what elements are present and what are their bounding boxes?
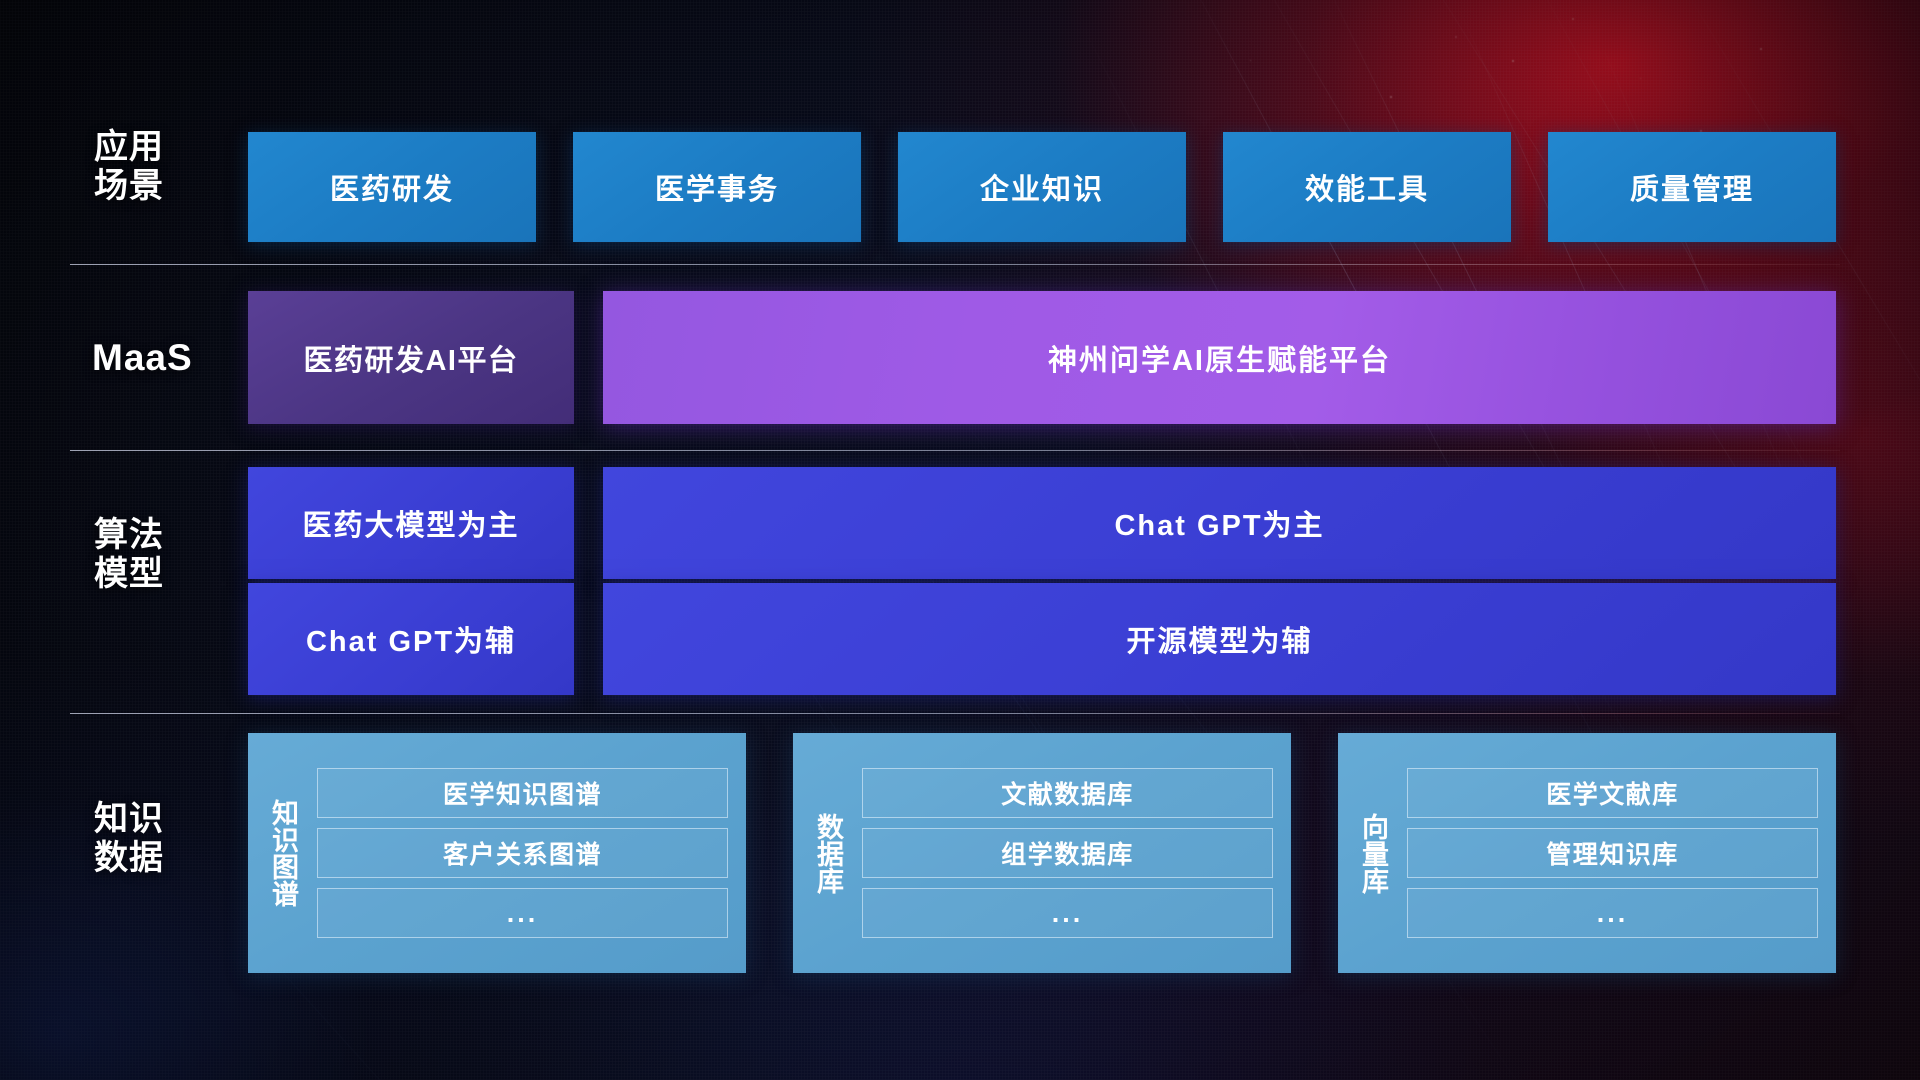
row-label-application-scenario: 应用 场景	[94, 128, 274, 207]
knowledge-item-label: ...	[507, 898, 539, 929]
knowledge-panel-2[interactable]: 向量库 医学文献库 管理知识库 ...	[1338, 733, 1836, 973]
knowledge-item[interactable]: 客户关系图谱	[317, 828, 728, 878]
divider-1	[70, 264, 1840, 265]
knowledge-panel-1[interactable]: 数据库 文献数据库 组学数据库 ...	[793, 733, 1291, 973]
knowledge-item-label: ...	[1052, 898, 1084, 929]
knowledge-item-more[interactable]: ...	[1407, 888, 1818, 938]
knowledge-item-label: ...	[1597, 898, 1629, 929]
knowledge-item-label: 文献数据库	[1001, 775, 1134, 811]
knowledge-item-label: 医学知识图谱	[443, 775, 602, 811]
knowledge-item-more[interactable]: ...	[317, 888, 728, 938]
knowledge-panel-items: 医学知识图谱 客户关系图谱 ...	[313, 733, 746, 973]
knowledge-item-label: 管理知识库	[1546, 835, 1679, 871]
maas-box-right[interactable]: 神州问学AI原生赋能平台	[603, 291, 1836, 424]
row-label-algorithm-model: 算法 模型	[94, 516, 274, 595]
algorithm-box-1[interactable]: Chat GPT为主	[603, 467, 1836, 579]
algorithm-box-0[interactable]: 医药大模型为主	[248, 467, 574, 579]
scenario-box-label: 质量管理	[1630, 166, 1754, 208]
knowledge-item[interactable]: 医学文献库	[1407, 768, 1818, 818]
knowledge-item-label: 医学文献库	[1546, 775, 1679, 811]
scenario-box-0[interactable]: 医药研发	[248, 132, 536, 242]
scenario-box-1[interactable]: 医学事务	[573, 132, 861, 242]
row-label-knowledge-data: 知识 数据	[94, 800, 274, 879]
scenario-box-label: 效能工具	[1305, 166, 1429, 208]
knowledge-panel-0[interactable]: 知识图谱 医学知识图谱 客户关系图谱 ...	[248, 733, 746, 973]
algorithm-box-label: 医药大模型为主	[302, 502, 519, 544]
knowledge-item[interactable]: 管理知识库	[1407, 828, 1818, 878]
knowledge-item[interactable]: 文献数据库	[862, 768, 1273, 818]
scenario-box-2[interactable]: 企业知识	[898, 132, 1186, 242]
algorithm-box-3[interactable]: 开源模型为辅	[603, 583, 1836, 695]
knowledge-item-label: 组学数据库	[1001, 835, 1134, 871]
algorithm-box-label: Chat GPT为辅	[306, 618, 516, 660]
knowledge-item-more[interactable]: ...	[862, 888, 1273, 938]
knowledge-panel-items: 文献数据库 组学数据库 ...	[858, 733, 1291, 973]
knowledge-panel-label: 知识图谱	[248, 733, 313, 973]
knowledge-panel-label: 数据库	[793, 733, 858, 973]
architecture-diagram: 应用 场景 医药研发 医学事务 企业知识 效能工具 质量管理 MaaS 医药研发…	[0, 0, 1920, 1080]
knowledge-item-label: 客户关系图谱	[443, 835, 602, 871]
scenario-box-4[interactable]: 质量管理	[1548, 132, 1836, 242]
algorithm-box-2[interactable]: Chat GPT为辅	[248, 583, 574, 695]
knowledge-panel-items: 医学文献库 管理知识库 ...	[1403, 733, 1836, 973]
knowledge-item[interactable]: 组学数据库	[862, 828, 1273, 878]
knowledge-item[interactable]: 医学知识图谱	[317, 768, 728, 818]
scenario-box-3[interactable]: 效能工具	[1223, 132, 1511, 242]
algorithm-box-label: Chat GPT为主	[1114, 502, 1324, 544]
maas-right-label: 神州问学AI原生赋能平台	[1048, 337, 1391, 379]
divider-3	[70, 713, 1840, 714]
scenario-box-label: 企业知识	[980, 166, 1104, 208]
maas-left-label: 医药研发AI平台	[303, 337, 518, 379]
divider-2	[70, 450, 1840, 451]
maas-box-left[interactable]: 医药研发AI平台	[248, 291, 574, 424]
knowledge-panel-label: 向量库	[1338, 733, 1403, 973]
scenario-box-label: 医药研发	[330, 166, 454, 208]
scenario-box-label: 医学事务	[655, 166, 779, 208]
algorithm-box-label: 开源模型为辅	[1126, 618, 1312, 660]
